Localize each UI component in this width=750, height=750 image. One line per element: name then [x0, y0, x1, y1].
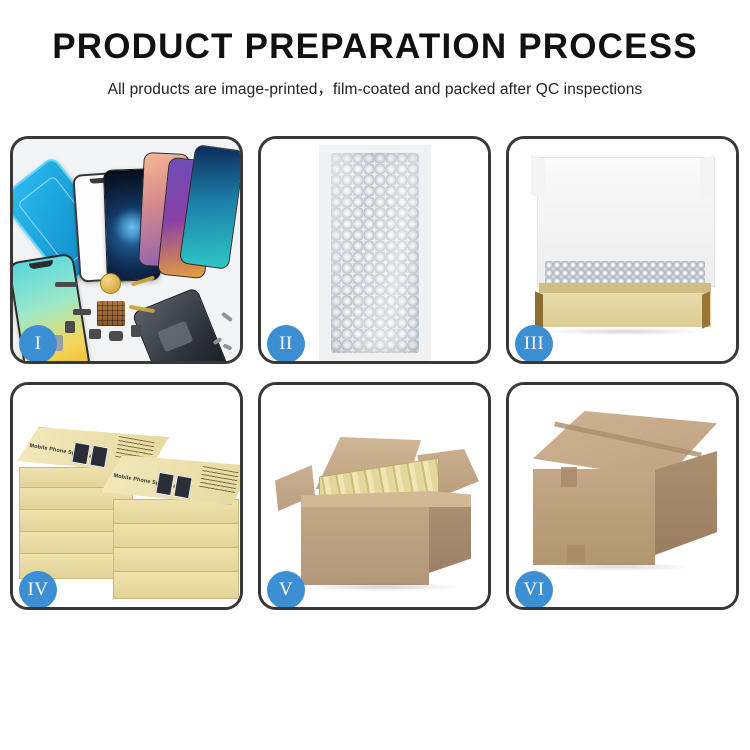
- product-preparation-page: PRODUCT PREPARATION PROCESS All products…: [0, 0, 750, 750]
- step-badge-4: IV: [19, 571, 57, 609]
- box-corner-left: [535, 291, 543, 329]
- carton-side: [429, 507, 471, 573]
- box-top-edge: [539, 283, 711, 293]
- step-numeral: II: [279, 333, 293, 355]
- step-panel-3[interactable]: III: [506, 136, 739, 364]
- stacked-box: [113, 547, 239, 573]
- phone-back-housing-icon: [131, 287, 228, 361]
- page-header: PRODUCT PREPARATION PROCESS All products…: [0, 0, 750, 99]
- page-title: PRODUCT PREPARATION PROCESS: [0, 28, 750, 67]
- step-numeral: VI: [523, 579, 544, 601]
- stacked-box: [113, 571, 239, 599]
- yellow-box-front: [539, 293, 711, 327]
- step-panel-4[interactable]: Mobile Phone Spare Parts Mobile Phone Sp…: [10, 382, 243, 610]
- small-part-icon: [65, 321, 75, 333]
- box-shadow: [545, 328, 705, 335]
- step-badge-6: VI: [515, 571, 553, 609]
- chip-board-icon: [97, 301, 125, 326]
- lid-flap-left-icon: [531, 155, 545, 200]
- step-panel-6[interactable]: VI: [506, 382, 739, 610]
- step-numeral: I: [35, 333, 42, 355]
- stacked-box: [113, 523, 239, 549]
- step-numeral: V: [279, 579, 293, 601]
- screwdriver-icon: [221, 312, 233, 323]
- small-part-icon: [131, 325, 141, 337]
- step-panel-5[interactable]: V: [258, 382, 491, 610]
- step-numeral: IV: [27, 579, 48, 601]
- step-badge-2: II: [267, 325, 305, 363]
- carton-shadow: [543, 563, 693, 571]
- small-part-icon: [73, 309, 91, 315]
- step-panel-2[interactable]: II: [258, 136, 491, 364]
- small-part-icon: [55, 282, 77, 287]
- box-stack: Mobile Phone Spare Parts Mobile Phone Sp…: [17, 403, 240, 603]
- carton-front: [301, 507, 429, 585]
- tape-strip-icon: [567, 545, 585, 563]
- step-numeral: III: [524, 333, 544, 355]
- carton-shadow: [307, 583, 459, 591]
- step-badge-1: I: [19, 325, 57, 363]
- box-corner-right: [702, 291, 710, 329]
- process-steps-grid: I II: [10, 136, 740, 610]
- small-part-icon: [89, 329, 101, 339]
- small-part-icon: [109, 331, 123, 341]
- speaker-module-icon: [100, 273, 121, 294]
- step-panel-1[interactable]: I: [10, 136, 243, 364]
- step-badge-5: V: [267, 571, 305, 609]
- step-badge-3: III: [515, 325, 553, 363]
- screw-icon: [223, 343, 233, 351]
- page-subtitle: All products are image-printed，film-coat…: [0, 77, 750, 99]
- tape-strip-icon: [561, 467, 577, 487]
- bubble-wrap-sheen: [331, 153, 419, 353]
- carton-front: [533, 469, 655, 565]
- lid-flap-right-icon: [700, 155, 714, 200]
